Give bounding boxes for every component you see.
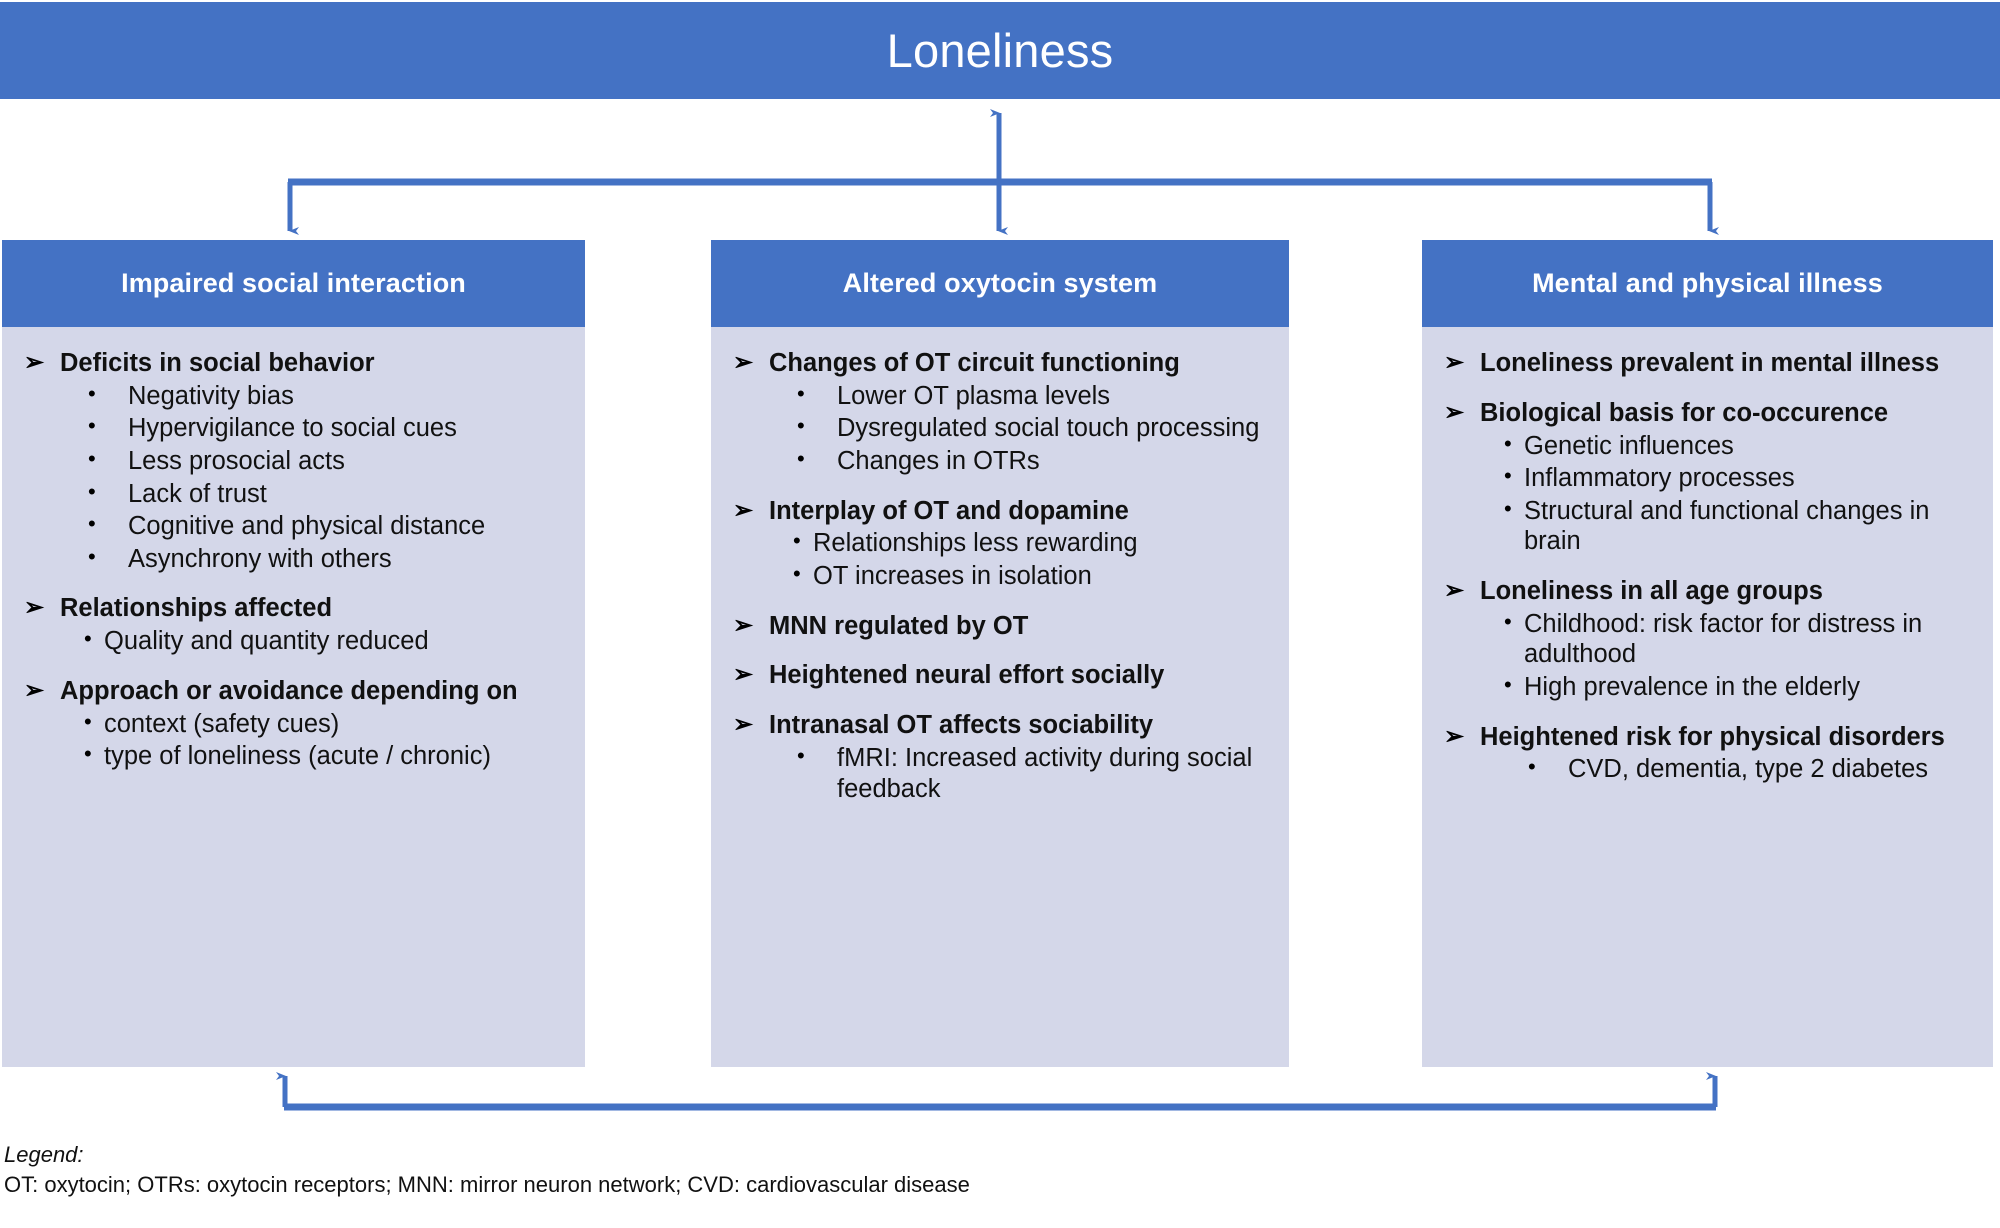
- group-interplay-of-ot-and-dopamine: ➢ Interplay of OT and dopamine •Relation…: [725, 497, 1275, 592]
- group-mnn-regulated-by-ot: ➢ MNN regulated by OT: [725, 612, 1275, 642]
- group-heightened-neural-effort-socially: ➢ Heightened neural effort socially: [725, 661, 1275, 691]
- bullet-icon: •: [1504, 672, 1524, 698]
- group-heading-text: Deficits in social behavior: [60, 349, 571, 379]
- chevron-right-icon: ➢: [16, 677, 60, 706]
- legend-text: OT: oxytocin; OTRs: oxytocin receptors; …: [4, 1170, 1504, 1200]
- group-heading: ➢ Biological basis for co-occurence: [1436, 399, 1979, 429]
- group-heading-text: Heightened risk for physical disorders: [1480, 723, 1979, 753]
- chevron-right-icon: ➢: [16, 349, 60, 378]
- group-heading-text: Interplay of OT and dopamine: [769, 497, 1275, 527]
- column-mental-and-physical-illness: Mental and physical illness ➢ Loneliness…: [1422, 240, 1993, 1067]
- list-item: •Genetic influences: [1436, 431, 1979, 462]
- bullet-icon: •: [793, 528, 813, 554]
- group-approach-or-avoidance: ➢ Approach or avoidance depending on •co…: [16, 677, 571, 772]
- list-item: •Lower OT plasma levels: [725, 381, 1275, 412]
- list-item: •Quality and quantity reduced: [16, 626, 571, 657]
- bullet-icon: •: [1528, 754, 1568, 780]
- bullet-icon: •: [88, 381, 128, 407]
- group-changes-of-ot-circuit-functioning: ➢ Changes of OT circuit functioning •Low…: [725, 349, 1275, 477]
- list-item: •Hypervigilance to social cues: [16, 413, 571, 444]
- list-item: •Cognitive and physical distance: [16, 511, 571, 542]
- bullet-icon: •: [797, 446, 837, 472]
- column-header-0: Impaired social interaction: [2, 240, 585, 327]
- bullet-icon: •: [88, 446, 128, 472]
- bullet-icon: •: [1504, 431, 1524, 457]
- sub-list: •Quality and quantity reduced: [16, 626, 571, 657]
- bullet-icon: •: [88, 544, 128, 570]
- list-item: •Inflammatory processes: [1436, 463, 1979, 494]
- chevron-right-icon: ➢: [725, 661, 769, 690]
- group-heading-text: Biological basis for co-occurence: [1480, 399, 1979, 429]
- group-heading: ➢ MNN regulated by OT: [725, 612, 1275, 642]
- bullet-icon: •: [1504, 609, 1524, 635]
- sub-list: •CVD, dementia, type 2 diabetes: [1436, 754, 1979, 785]
- bullet-icon: •: [797, 743, 837, 769]
- column-altered-oxytocin-system: Altered oxytocin system ➢ Changes of OT …: [711, 240, 1289, 1067]
- bullet-icon: •: [793, 561, 813, 587]
- group-relationships-affected: ➢ Relationships affected •Quality and qu…: [16, 594, 571, 656]
- group-heading: ➢ Interplay of OT and dopamine: [725, 497, 1275, 527]
- list-item: •Childhood: risk factor for distress in …: [1436, 609, 1979, 670]
- legend: Legend: OT: oxytocin; OTRs: oxytocin rec…: [4, 1140, 1504, 1199]
- list-item: •Asynchrony with others: [16, 544, 571, 575]
- sub-list: •context (safety cues) •type of loneline…: [16, 709, 571, 772]
- group-loneliness-prevalent-in-mental-illness: ➢ Loneliness prevalent in mental illness: [1436, 349, 1979, 379]
- group-heading-text: Heightened neural effort socially: [769, 661, 1275, 691]
- chevron-right-icon: ➢: [1436, 399, 1480, 428]
- chevron-right-icon: ➢: [725, 349, 769, 378]
- bullet-icon: •: [797, 381, 837, 407]
- list-item: •Negativity bias: [16, 381, 571, 412]
- group-heading: ➢ Deficits in social behavior: [16, 349, 571, 379]
- group-heading: ➢ Intranasal OT affects sociability: [725, 711, 1275, 741]
- chevron-right-icon: ➢: [1436, 349, 1480, 378]
- sub-list: •Genetic influences •Inflammatory proces…: [1436, 431, 1979, 557]
- group-heading-text: Intranasal OT affects sociability: [769, 711, 1275, 741]
- group-heading: ➢ Changes of OT circuit functioning: [725, 349, 1275, 379]
- group-heading: ➢ Approach or avoidance depending on: [16, 677, 571, 707]
- group-biological-basis-for-co-occurence: ➢ Biological basis for co-occurence •Gen…: [1436, 399, 1979, 557]
- sub-list: •Childhood: risk factor for distress in …: [1436, 609, 1979, 703]
- list-item: •Relationships less rewarding: [725, 528, 1275, 559]
- group-heading: ➢ Relationships affected: [16, 594, 571, 624]
- chevron-right-icon: ➢: [725, 711, 769, 740]
- group-heightened-risk-for-physical-disorders: ➢ Heightened risk for physical disorders…: [1436, 723, 1979, 785]
- bullet-icon: •: [797, 413, 837, 439]
- group-heading: ➢ Loneliness prevalent in mental illness: [1436, 349, 1979, 379]
- group-heading-text: Loneliness in all age groups: [1480, 577, 1979, 607]
- group-heading-text: Approach or avoidance depending on: [60, 677, 571, 707]
- group-heading-text: Loneliness prevalent in mental illness: [1480, 349, 1979, 379]
- group-heading: ➢ Heightened neural effort socially: [725, 661, 1275, 691]
- diagram-canvas: Loneliness: [0, 0, 2000, 1228]
- legend-label: Legend:: [4, 1140, 1504, 1170]
- group-heading-text: Changes of OT circuit functioning: [769, 349, 1275, 379]
- group-heading-text: MNN regulated by OT: [769, 612, 1275, 642]
- bullet-icon: •: [88, 511, 128, 537]
- list-item: •Less prosocial acts: [16, 446, 571, 477]
- sub-list: •Negativity bias •Hypervigilance to soci…: [16, 381, 571, 575]
- column-body-2: ➢ Loneliness prevalent in mental illness…: [1422, 327, 1993, 1067]
- bullet-icon: •: [88, 479, 128, 505]
- chevron-right-icon: ➢: [16, 594, 60, 623]
- feedback-connector: [284, 1076, 1716, 1107]
- loneliness-title-box: Loneliness: [0, 2, 2000, 99]
- bullet-icon: •: [84, 626, 104, 652]
- group-loneliness-in-all-age-groups: ➢ Loneliness in all age groups •Childhoo…: [1436, 577, 1979, 703]
- column-header-1: Altered oxytocin system: [711, 240, 1289, 327]
- bullet-icon: •: [1504, 496, 1524, 522]
- group-deficits-in-social-behavior: ➢ Deficits in social behavior •Negativit…: [16, 349, 571, 574]
- list-item: •Dysregulated social touch processing: [725, 413, 1275, 444]
- list-item: •context (safety cues): [16, 709, 571, 740]
- chevron-right-icon: ➢: [725, 497, 769, 526]
- bullet-icon: •: [88, 413, 128, 439]
- group-intranasal-ot-affects-sociability: ➢ Intranasal OT affects sociability •fMR…: [725, 711, 1275, 804]
- list-item: •Structural and functional changes in br…: [1436, 496, 1979, 557]
- bullet-icon: •: [84, 741, 104, 767]
- list-item: •Changes in OTRs: [725, 446, 1275, 477]
- list-item: •CVD, dementia, type 2 diabetes: [1436, 754, 1979, 785]
- bullet-icon: •: [84, 709, 104, 735]
- group-heading: ➢ Loneliness in all age groups: [1436, 577, 1979, 607]
- list-item: •Lack of trust: [16, 479, 571, 510]
- group-heading: ➢ Heightened risk for physical disorders: [1436, 723, 1979, 753]
- sub-list: •fMRI: Increased activity during social …: [725, 743, 1275, 804]
- list-item: •High prevalence in the elderly: [1436, 672, 1979, 703]
- column-body-0: ➢ Deficits in social behavior •Negativit…: [2, 327, 585, 1067]
- chevron-right-icon: ➢: [725, 612, 769, 641]
- chevron-right-icon: ➢: [1436, 577, 1480, 606]
- group-heading-text: Relationships affected: [60, 594, 571, 624]
- bullet-icon: •: [1504, 463, 1524, 489]
- column-impaired-social-interaction: Impaired social interaction ➢ Deficits i…: [2, 240, 585, 1067]
- sub-list: •Relationships less rewarding •OT increa…: [725, 528, 1275, 591]
- page-title: Loneliness: [887, 27, 1114, 74]
- list-item: •type of loneliness (acute / chronic): [16, 741, 571, 772]
- list-item: •OT increases in isolation: [725, 561, 1275, 592]
- column-body-1: ➢ Changes of OT circuit functioning •Low…: [711, 327, 1289, 1067]
- column-header-2: Mental and physical illness: [1422, 240, 1993, 327]
- chevron-right-icon: ➢: [1436, 723, 1480, 752]
- sub-list: •Lower OT plasma levels •Dysregulated so…: [725, 381, 1275, 477]
- list-item: •fMRI: Increased activity during social …: [725, 743, 1275, 804]
